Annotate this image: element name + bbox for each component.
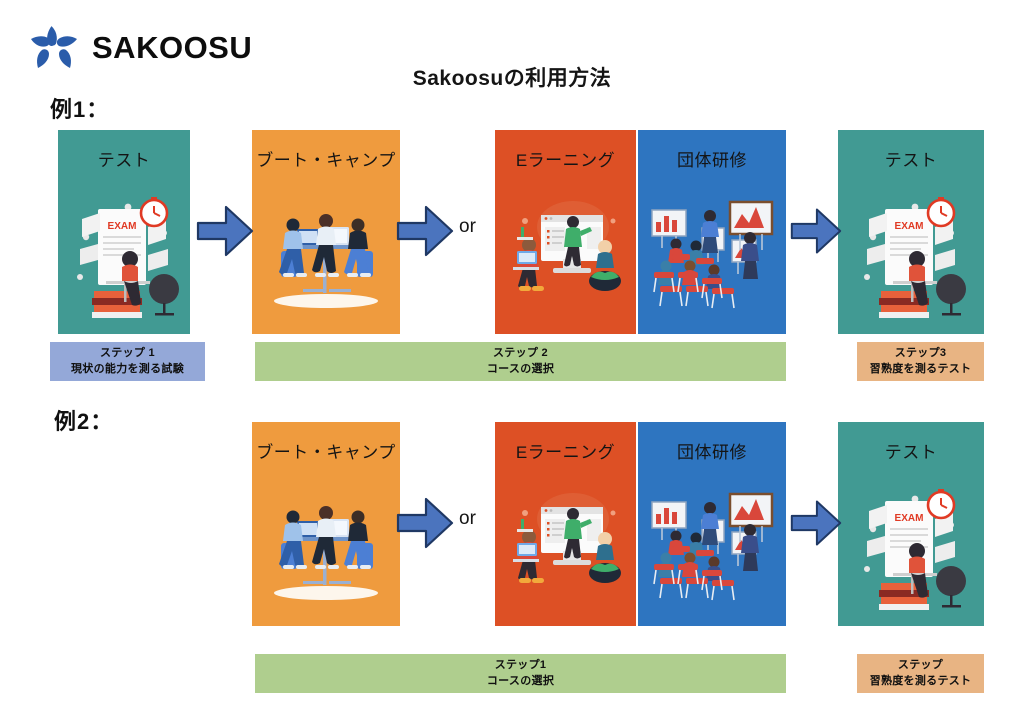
band-line-2: 習熟度を測るテスト (870, 674, 972, 690)
step-band-row1-3: ステップ3 習熟度を測るテスト (857, 342, 984, 381)
band-line-1: ステップ3 (895, 346, 947, 362)
group-training-illustration (638, 169, 786, 334)
card-title: テスト (98, 152, 151, 169)
step-band-row2-1: ステップ1 コースの選択 (255, 654, 786, 693)
card-row1-test-2[interactable]: テスト EXAM (838, 130, 984, 334)
step-band-row1-2: ステップ 2 コースの選択 (255, 342, 786, 381)
arrow-row2-2 (790, 495, 842, 556)
card-row2-elearning[interactable]: Eラーニング (495, 422, 636, 626)
card-row2-group-training[interactable]: 団体研修 (638, 422, 786, 626)
card-row1-bootcamp[interactable]: ブート・キャンプ (252, 130, 400, 334)
card-row1-group-training[interactable]: 団体研修 (638, 130, 786, 334)
band-line-1: ステップ1 (495, 658, 547, 674)
card-title: ブート・キャンプ (256, 444, 396, 461)
arrow-row2-1 (396, 495, 454, 556)
or-label-row2: or (459, 508, 476, 530)
band-line-1: ステップ 2 (493, 346, 548, 362)
row-label-example-2: 例2： (54, 404, 113, 436)
row-label-example-1: 例1： (50, 92, 109, 124)
card-row2-bootcamp[interactable]: ブート・キャンプ (252, 422, 400, 626)
exam-illustration: EXAM (58, 169, 190, 334)
band-line-2: 現状の能力を測る試験 (71, 362, 184, 378)
group-training-illustration (638, 461, 786, 626)
card-title: Eラーニング (516, 152, 615, 169)
card-title: Eラーニング (516, 444, 615, 461)
band-line-1: ステップ 1 (100, 346, 155, 362)
arrow-row1-3 (790, 203, 842, 264)
step-band-row1-1: ステップ 1 現状の能力を測る試験 (50, 342, 205, 381)
card-title: ブート・キャンプ (256, 152, 396, 169)
exam-illustration: EXAM (838, 461, 984, 626)
arrow-row1-1 (196, 203, 254, 264)
band-line-2: 習熟度を測るテスト (870, 362, 972, 378)
brand-name: SAKOOSU (92, 30, 252, 66)
card-title: テスト (885, 444, 938, 461)
slide-canvas: SAKOOSU Sakoosuの利用方法 例1： 例2： テスト EXAM (0, 0, 1024, 710)
svg-text:EXAM: EXAM (895, 513, 924, 524)
exam-illustration: EXAM (838, 169, 984, 334)
band-line-1: ステップ (898, 658, 943, 674)
elearning-illustration (495, 169, 636, 334)
or-label-row1: or (459, 216, 476, 238)
elearning-illustration (495, 461, 636, 626)
svg-text:EXAM: EXAM (108, 221, 137, 232)
arrow-row1-2 (396, 203, 454, 264)
band-line-2: コースの選択 (487, 674, 554, 690)
card-title: 団体研修 (677, 152, 747, 169)
card-title: 団体研修 (677, 444, 747, 461)
card-row2-test[interactable]: テスト EXAM (838, 422, 984, 626)
band-line-2: コースの選択 (487, 362, 554, 378)
page-title: Sakoosuの利用方法 (0, 62, 1024, 92)
card-row1-elearning[interactable]: Eラーニング (495, 130, 636, 334)
bootcamp-illustration (252, 169, 400, 334)
step-band-row2-2: ステップ 習熟度を測るテスト (857, 654, 984, 693)
card-row1-test-1[interactable]: テスト EXAM (58, 130, 190, 334)
svg-text:EXAM: EXAM (895, 221, 924, 232)
bootcamp-illustration (252, 461, 400, 626)
card-title: テスト (885, 152, 938, 169)
